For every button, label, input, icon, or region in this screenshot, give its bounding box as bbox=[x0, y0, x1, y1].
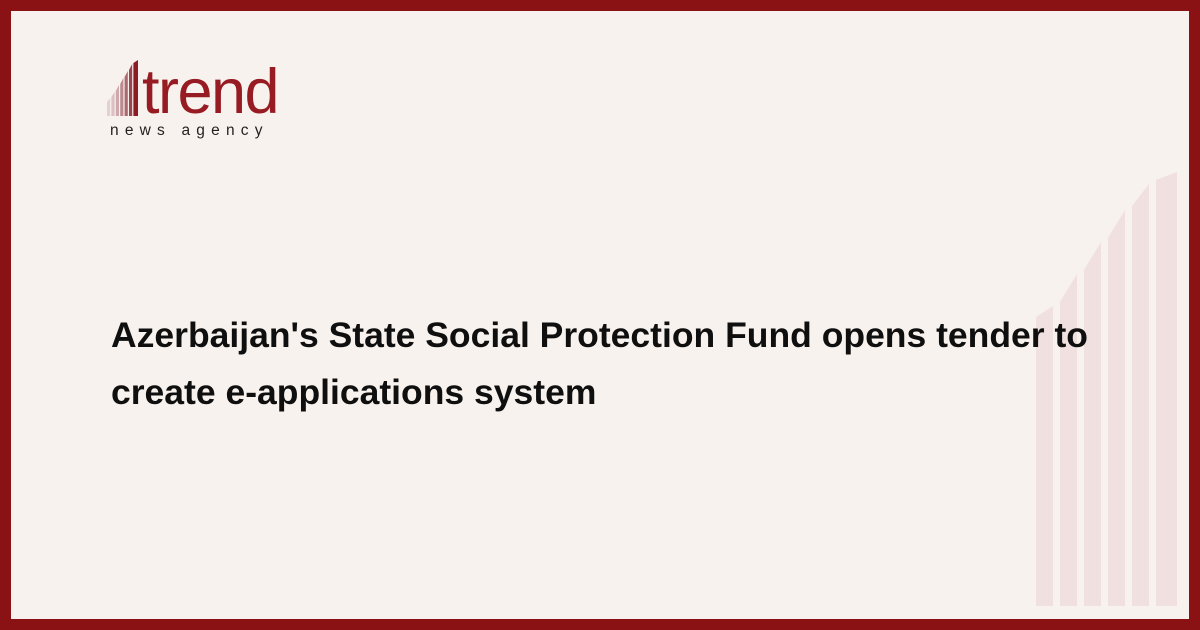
decor-bar-5 bbox=[1132, 184, 1149, 606]
logo-bar-6 bbox=[129, 64, 132, 116]
social-share-card: trend news agency Azerbaijan's State Soc… bbox=[0, 0, 1200, 630]
trend-news-agency-logo[interactable]: trend news agency bbox=[107, 54, 367, 146]
logo-bar-7 bbox=[133, 60, 138, 116]
logo-bar-5 bbox=[125, 71, 128, 116]
article-headline: Azerbaijan's State Social Protection Fun… bbox=[111, 307, 1101, 421]
trend-bars-logo-mark-icon bbox=[107, 60, 141, 116]
decor-bar-6 bbox=[1156, 172, 1177, 606]
logo-mark-bars bbox=[107, 60, 138, 116]
decor-bar-3 bbox=[1084, 242, 1101, 606]
logo-bar-2 bbox=[111, 92, 114, 116]
decor-bar-4 bbox=[1108, 210, 1125, 606]
logo-bar-4 bbox=[120, 78, 123, 116]
logo-bar-3 bbox=[116, 85, 119, 116]
logo-bar-1 bbox=[107, 98, 110, 116]
logo-wordmark: trend bbox=[142, 64, 278, 120]
logo-primary-row: trend bbox=[107, 54, 367, 116]
